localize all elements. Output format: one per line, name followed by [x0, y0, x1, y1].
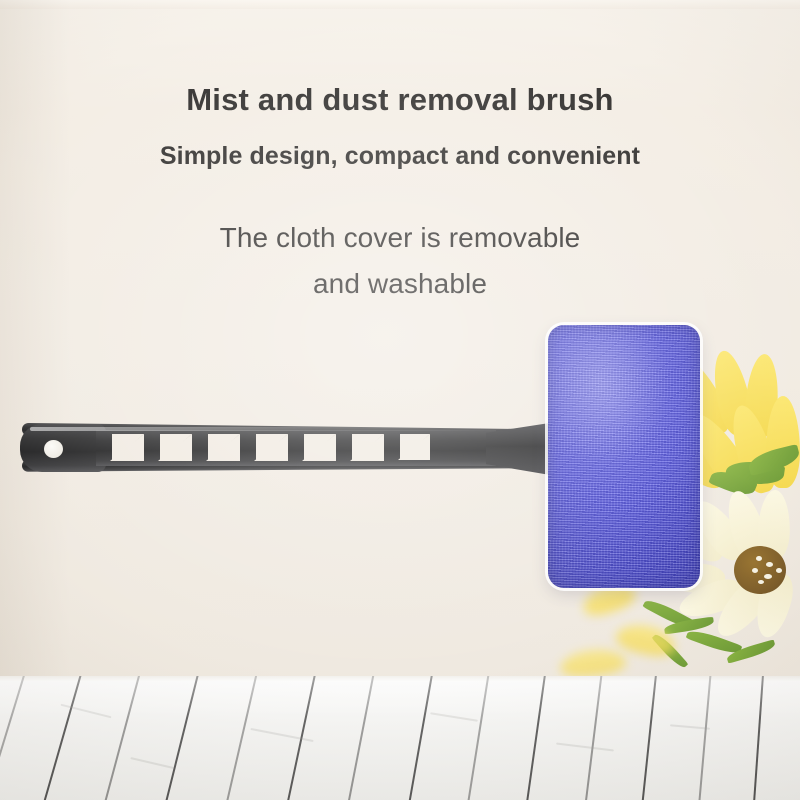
- pad-edge-shading: [548, 325, 700, 588]
- hang-hole: [44, 440, 63, 458]
- feature-statement-line-1: The cloth cover is removable: [0, 222, 800, 254]
- feature-statement-line-2: and washable: [0, 268, 800, 300]
- product-image-canvas: Mist and dust removal brush Simple desig…: [0, 0, 800, 800]
- page-title: Mist and dust removal brush: [0, 82, 800, 118]
- brush-handle: [0, 400, 580, 510]
- page-subtitle: Simple design, compact and convenient: [0, 142, 800, 171]
- background-top-band: [0, 0, 800, 9]
- wood-plank-floor: [0, 676, 800, 800]
- handle-end-cap: [20, 424, 106, 472]
- microfiber-brush-pad: [548, 325, 700, 588]
